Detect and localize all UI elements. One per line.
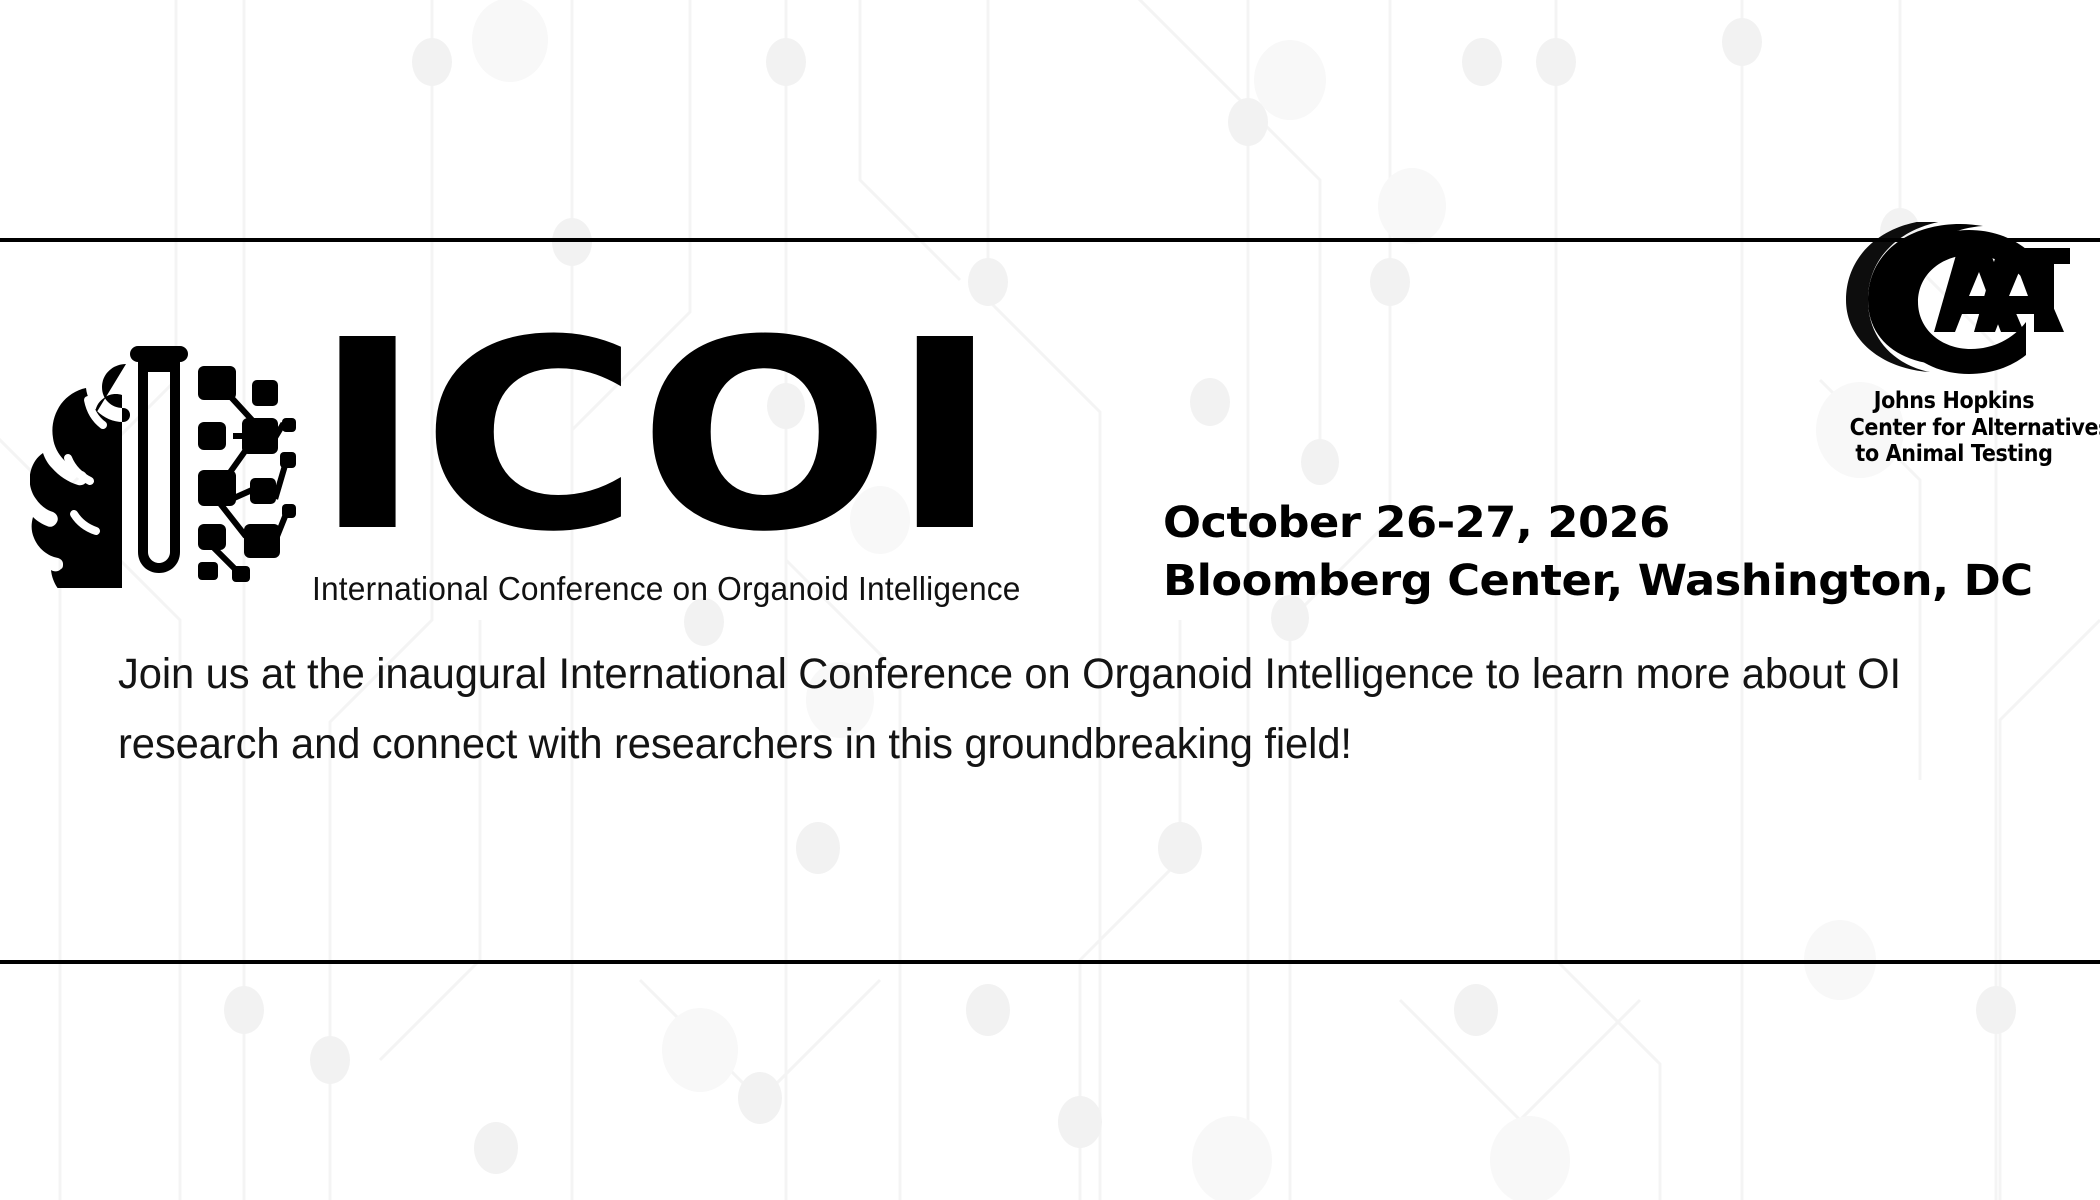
brain-test-tube-circuit-icon bbox=[30, 338, 298, 588]
caat-name-lines: Johns Hopkins Center for Alternatives to… bbox=[1850, 388, 2059, 468]
caat-name-line-2: Center for Alternatives bbox=[1850, 415, 2059, 442]
icoi-logo-lockup[interactable]: ICOI International Conference on Organoi… bbox=[30, 330, 1050, 608]
caat-logo[interactable]: Johns Hopkins Center for Alternatives to… bbox=[1838, 222, 2070, 468]
event-venue: Bloomberg Center, Washington, DC bbox=[1163, 552, 2033, 610]
icoi-text-block: ICOI International Conference on Organoi… bbox=[312, 330, 1050, 608]
icoi-tagline: International Conference on Organoid Int… bbox=[312, 570, 1021, 608]
banner-bottom-rule bbox=[0, 960, 2100, 964]
caat-name-line-1: Johns Hopkins bbox=[1850, 388, 2059, 415]
intro-paragraph: Join us at the inaugural International C… bbox=[118, 640, 1942, 779]
icoi-wordmark: ICOI bbox=[312, 332, 998, 542]
banner-stage: ICOI International Conference on Organoi… bbox=[0, 0, 2100, 1200]
caat-name-line-3: to Animal Testing bbox=[1850, 441, 2059, 468]
banner-content-band: ICOI International Conference on Organoi… bbox=[0, 242, 2100, 960]
event-details: October 26-27, 2026 Bloomberg Center, Wa… bbox=[1163, 494, 1999, 611]
event-dates: October 26-27, 2026 bbox=[1163, 494, 2033, 552]
caat-swoosh-logo bbox=[1838, 222, 2070, 384]
